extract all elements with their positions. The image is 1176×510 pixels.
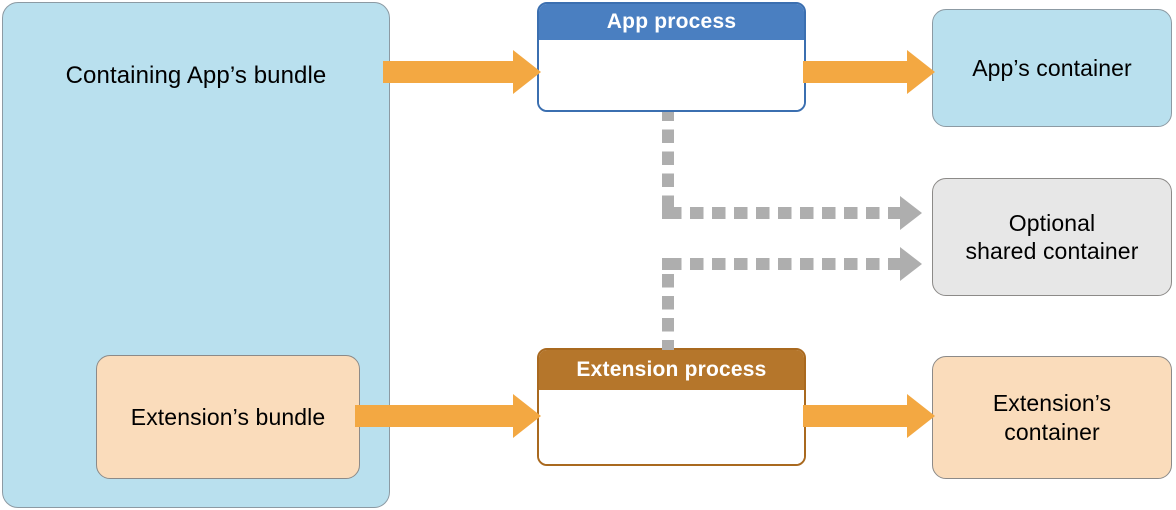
shared-container-label-line1: Optional (1009, 210, 1095, 236)
extension-bundle-label: Extension’s bundle (131, 403, 325, 431)
arrow-extension-process-to-extension-container (803, 394, 937, 438)
extension-container-label: Extension’s container (993, 389, 1111, 445)
app-process-header: App process (539, 4, 804, 40)
arrow-shaft (355, 405, 517, 427)
containing-app-bundle-label: Containing App’s bundle (66, 61, 327, 90)
arrow-head (907, 50, 935, 94)
app-container-label: App’s container (972, 54, 1132, 82)
extension-container-label-line1: Extension’s (993, 390, 1111, 416)
dashed-arrow-extension-process-to-shared-container-vertical (662, 264, 674, 350)
dashed-arrow-extension-process-to-shared-container-horizontal (674, 258, 904, 270)
extension-container-box: Extension’s container (932, 356, 1172, 479)
shared-container-label-line2: shared container (966, 238, 1139, 264)
arrow-containing-app-bundle-to-app-process (383, 50, 543, 94)
extension-process-box: Extension process (537, 348, 806, 466)
dashed-arrow-app-process-to-shared-container-vertical (662, 112, 674, 213)
arrow-app-process-to-app-container (803, 50, 937, 94)
arrow-shaft (803, 61, 909, 83)
extension-process-body (539, 390, 804, 464)
app-process-body (539, 40, 804, 110)
dashed-arrow-app-process-to-shared-container-corner (662, 207, 674, 219)
shared-container-label: Optional shared container (966, 209, 1139, 265)
app-container-box: App’s container (932, 9, 1172, 127)
arrow-head (907, 394, 935, 438)
arrow-head (513, 50, 541, 94)
extension-process-header: Extension process (539, 350, 804, 390)
extension-container-label-line2: container (1004, 419, 1100, 445)
extension-bundle-box: Extension’s bundle (96, 355, 360, 479)
shared-container-box: Optional shared container (932, 178, 1172, 296)
dashed-arrow-extension-process-to-shared-container-corner (662, 258, 674, 270)
dashed-arrow-extension-process-to-shared-container-head (900, 247, 922, 281)
architecture-diagram: Containing App’s bundle Extension’s bund… (0, 0, 1176, 510)
arrow-extension-bundle-to-extension-process (355, 394, 543, 438)
arrow-shaft (803, 405, 909, 427)
dashed-arrow-app-process-to-shared-container-horizontal (674, 207, 904, 219)
dashed-arrow-app-process-to-shared-container-head (900, 196, 922, 230)
arrow-shaft (383, 61, 517, 83)
arrow-head (513, 394, 541, 438)
app-process-box: App process (537, 2, 806, 112)
